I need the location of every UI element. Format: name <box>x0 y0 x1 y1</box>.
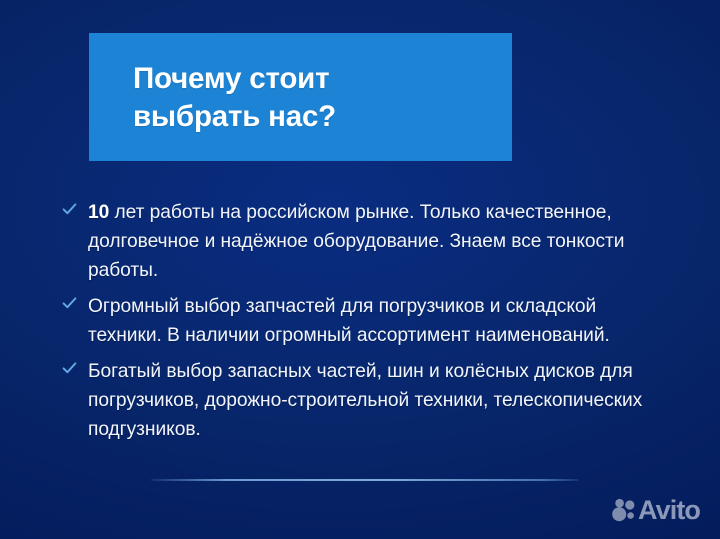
page-title: Почему стоит выбрать нас? <box>133 60 336 136</box>
check-icon <box>62 296 77 311</box>
avito-logo-icon <box>611 497 637 523</box>
list-item-lead: 10 <box>88 202 109 223</box>
avito-watermark: Avito <box>611 497 700 523</box>
list-item: Богатый выбор запасных частей, шин и кол… <box>62 357 662 444</box>
check-icon <box>62 202 77 217</box>
list-item-text: 10 лет работы на российском рынке. Тольк… <box>88 202 624 281</box>
avito-wordmark: Avito <box>638 497 700 523</box>
list-item: Огромный выбор запчастей для погрузчиков… <box>62 292 662 350</box>
list-item-body: Богатый выбор запасных частей, шин и кол… <box>88 361 642 440</box>
list-item-text: Богатый выбор запасных частей, шин и кол… <box>88 361 642 440</box>
benefits-list: 10 лет работы на российском рынке. Тольк… <box>62 198 662 451</box>
heading-banner: Почему стоит выбрать нас? <box>89 33 512 161</box>
list-item-body: лет работы на российском рынке. Только к… <box>88 202 624 281</box>
check-icon <box>62 361 77 376</box>
presentation-slide: Почему стоит выбрать нас? 10 лет работы … <box>0 0 720 539</box>
list-item-body: Огромный выбор запчастей для погрузчиков… <box>88 296 610 346</box>
list-item-text: Огромный выбор запчастей для погрузчиков… <box>88 296 610 346</box>
divider <box>151 479 579 481</box>
list-item: 10 лет работы на российском рынке. Тольк… <box>62 198 662 285</box>
